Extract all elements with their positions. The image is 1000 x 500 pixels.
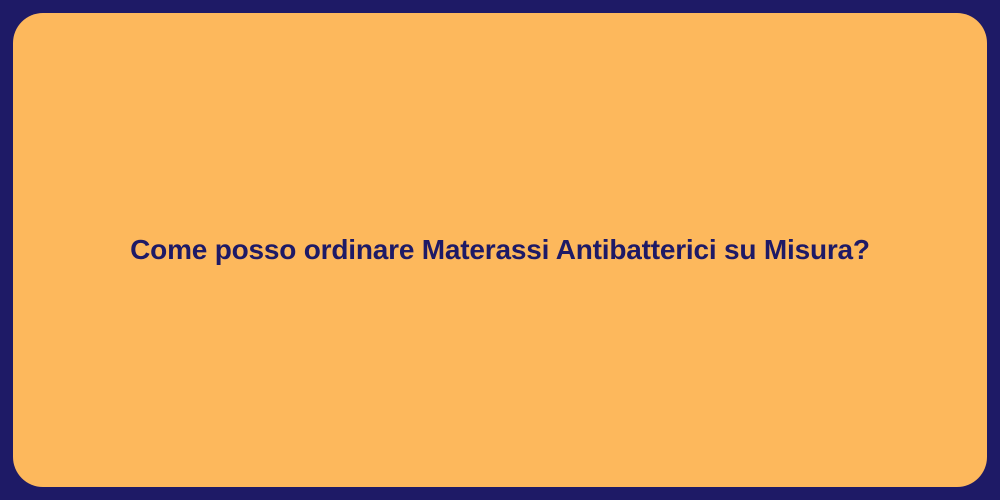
page-title: Come posso ordinare Materassi Antibatter… xyxy=(90,232,910,268)
banner-frame: Come posso ordinare Materassi Antibatter… xyxy=(0,0,1000,500)
banner-panel: Come posso ordinare Materassi Antibatter… xyxy=(13,13,987,487)
